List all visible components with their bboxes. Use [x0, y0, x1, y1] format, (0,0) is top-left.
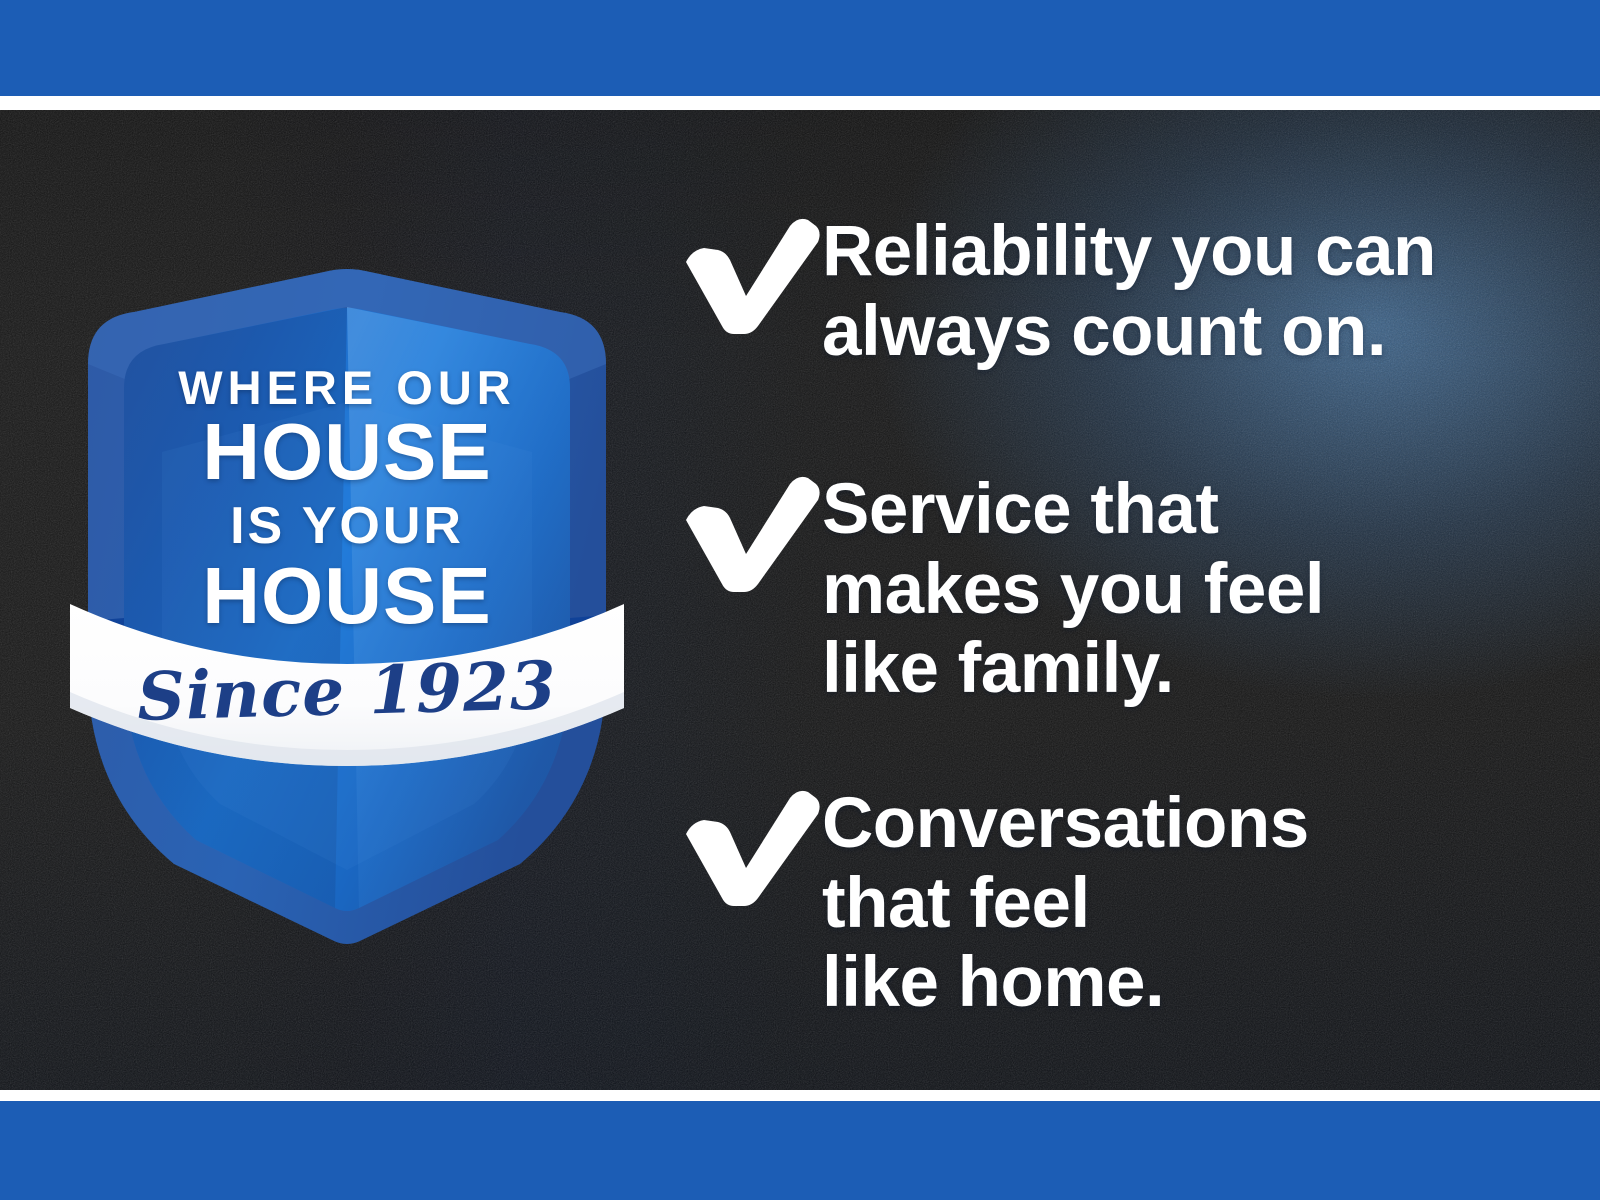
- promo-banner: Where Our House Is Your House Since 1923…: [0, 0, 1600, 1200]
- company-shield-logo: Where Our House Is Your House Since 1923: [62, 152, 632, 952]
- benefit-text: Service that makes you feel like family.: [822, 468, 1572, 709]
- logo-line-4: House: [62, 556, 632, 636]
- checkmark-icon: [672, 210, 822, 335]
- benefit-text: Reliability you can always count on.: [822, 210, 1572, 371]
- logo-line-3: Is Your: [62, 500, 632, 552]
- checkmark-icon: [672, 468, 822, 593]
- checkmark-icon: [672, 782, 822, 907]
- benefit-text: Conversations that feel like home.: [822, 782, 1572, 1023]
- top-brand-bar: [0, 0, 1600, 96]
- benefits-list: Reliability you can always count on. Ser…: [672, 110, 1572, 1090]
- logo-line-2: House: [62, 412, 632, 492]
- logo-line-1: Where Our: [62, 364, 632, 411]
- benefit-item: Service that makes you feel like family.: [672, 468, 1572, 709]
- logo-since-ribbon-text: Since 1923: [61, 644, 633, 738]
- benefit-item: Reliability you can always count on.: [672, 210, 1572, 371]
- benefit-item: Conversations that feel like home.: [672, 782, 1572, 1023]
- bottom-brand-bar: [0, 1101, 1600, 1200]
